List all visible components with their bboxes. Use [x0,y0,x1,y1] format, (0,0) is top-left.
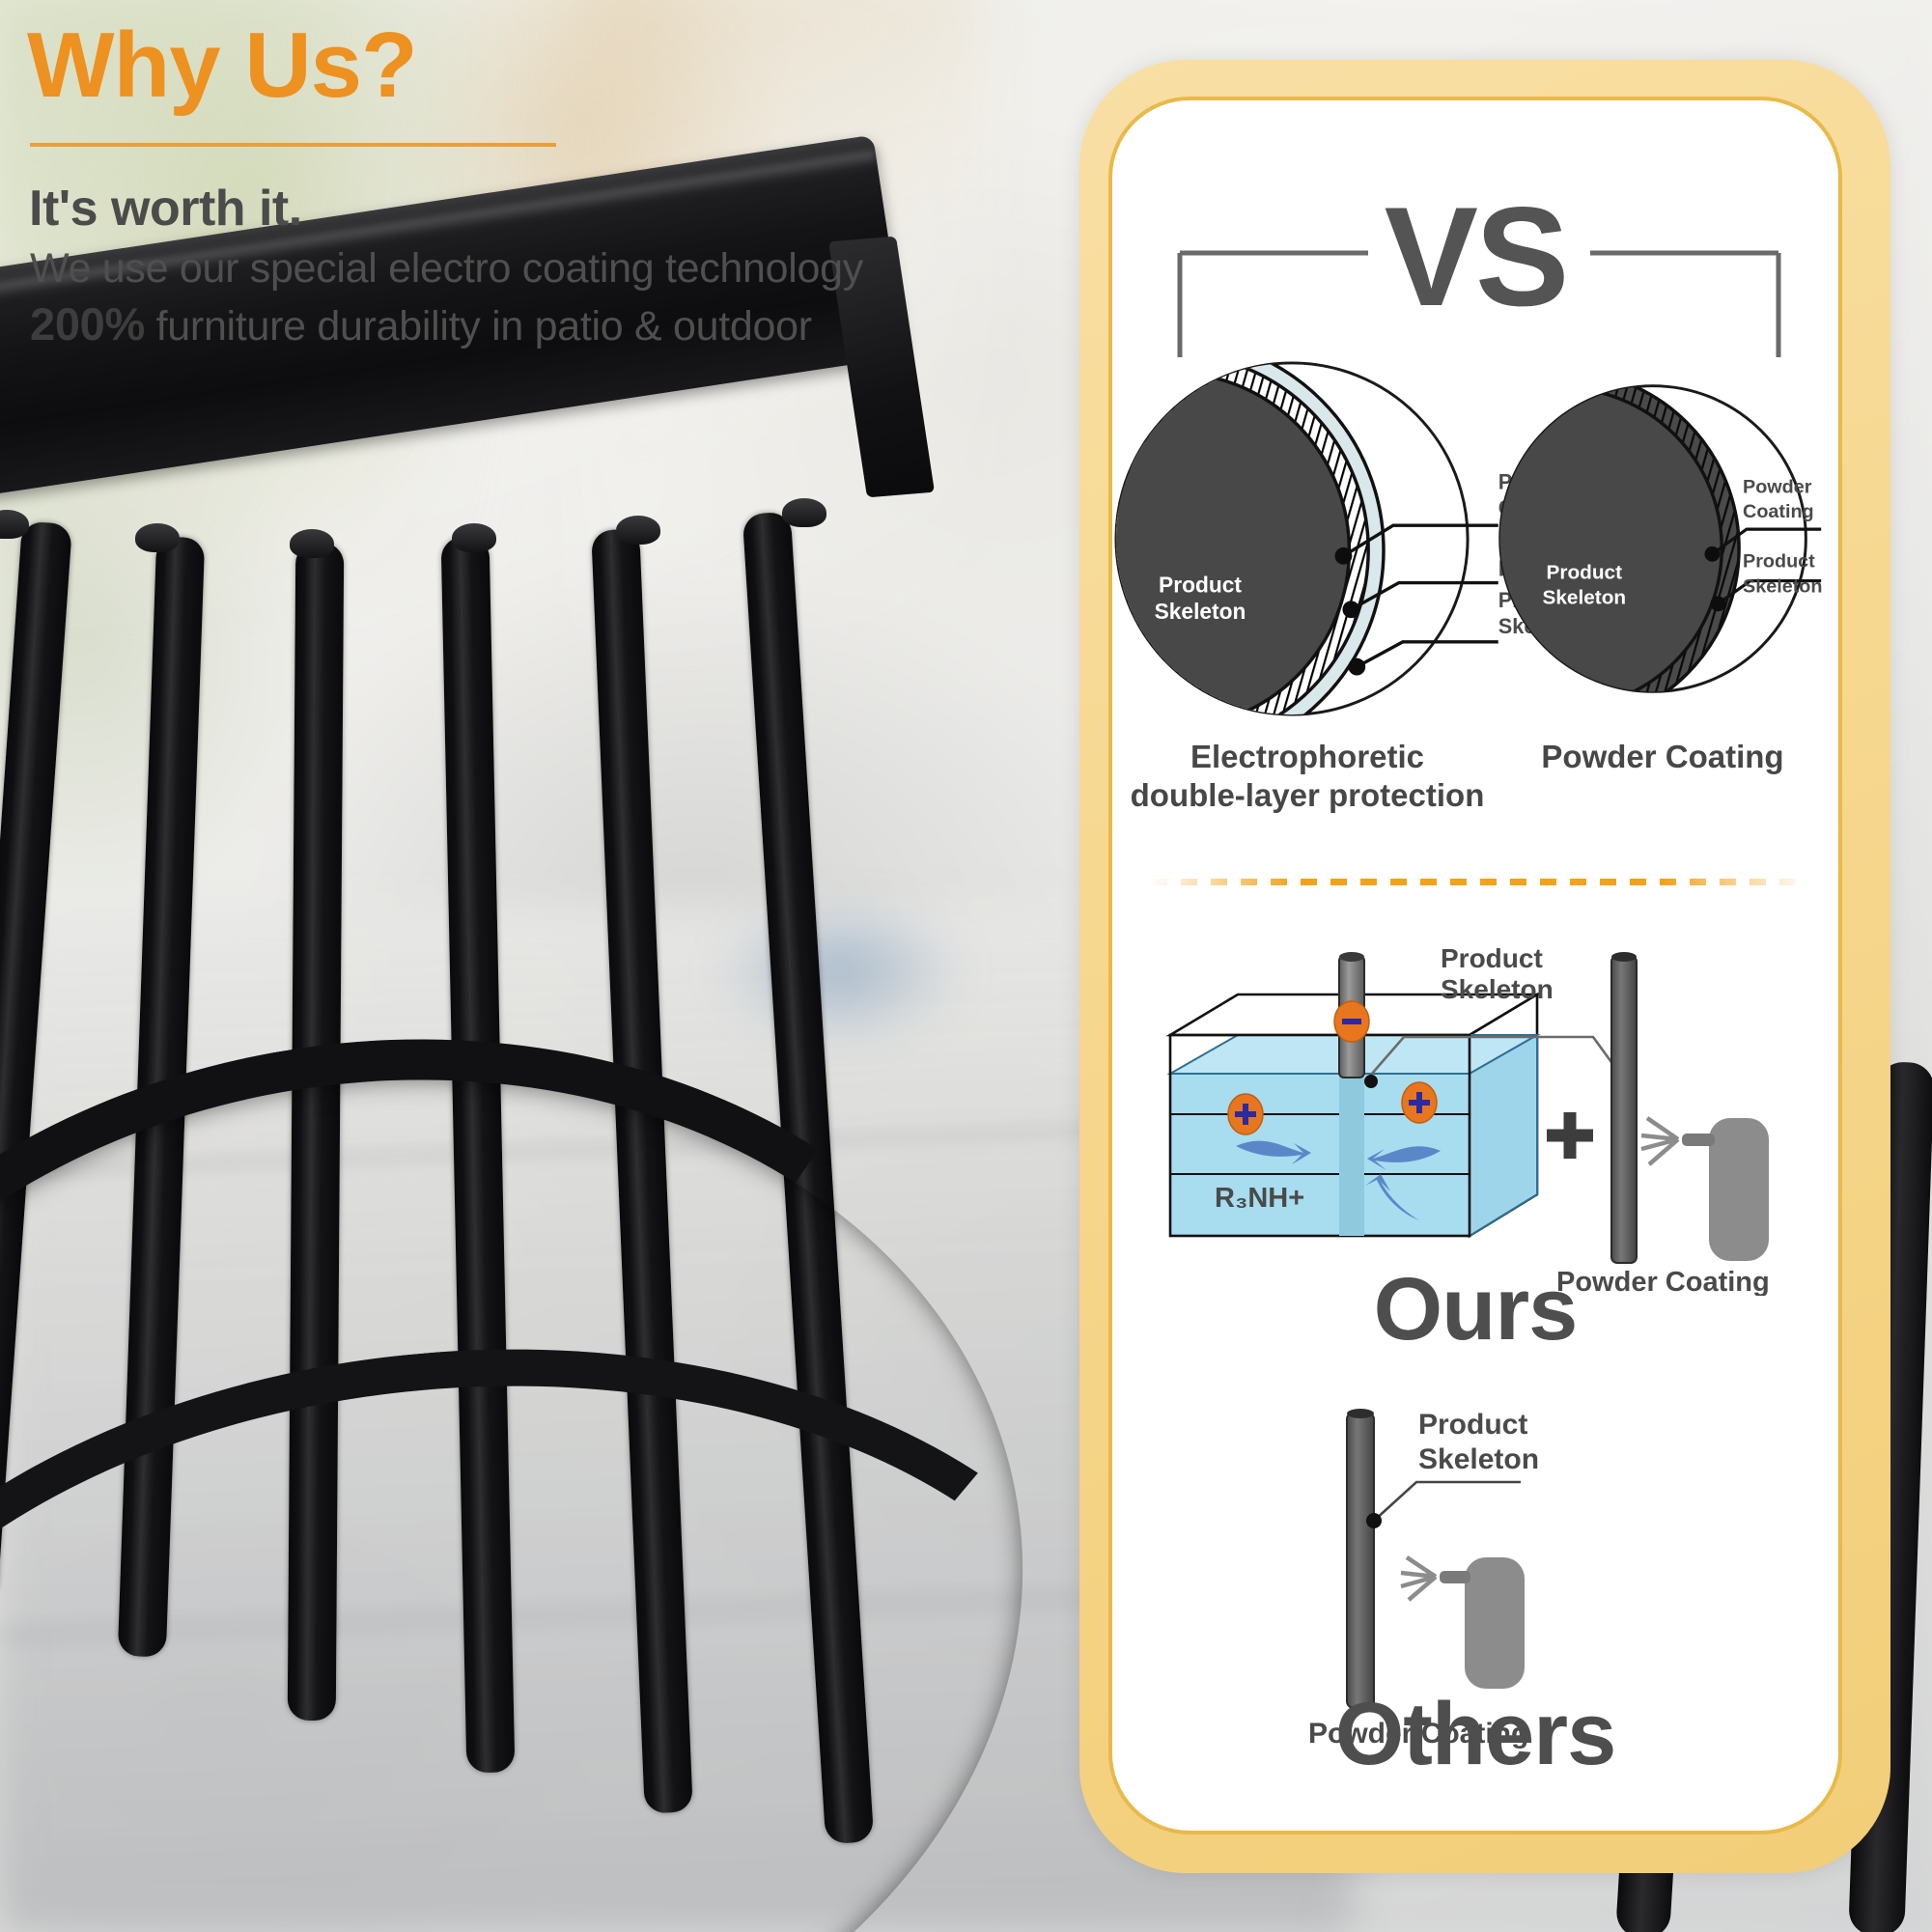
backdrop-blue-reflection [714,898,966,1043]
right-callout-powder-coating-line2: Coating [1743,501,1814,522]
caption-electrophoretic: Electrophoretic double-layer protection [1124,738,1491,816]
ours-title: Ours [1112,1259,1838,1360]
chair-spindle-knob-3 [290,529,334,558]
chair-spindle-knob-5 [616,516,660,545]
chair-spindle-knob-2 [135,523,180,552]
left-core-label-line1: Product [1159,572,1242,597]
durability-percent: 200% [30,298,145,350]
right-callout-powder-coating-line1: Powder [1743,477,1812,498]
right-callout-product-skeleton-line1: Product [1743,551,1815,573]
infographic-canvas: Why Us? It's worth it. We use our specia… [0,0,1932,1932]
subheading: It's worth it. [29,180,302,238]
ours-process-diagram: R₃NH+ Product Skeleton Powder Coating [1141,929,1817,1296]
left-core-label-line2: Skeleton [1155,599,1246,624]
right-core-label-line1: Product [1547,562,1623,584]
page-title: Why Us? [27,17,417,115]
others-skeleton-label-line1: Product [1418,1409,1527,1441]
chair-spindle-knob-4 [452,523,496,552]
others-title: Others [1112,1684,1838,1785]
comparison-captions: Electrophoretic double-layer protection … [1112,738,1838,854]
right-core-label-line2: Skeleton [1543,586,1627,608]
right-callout-product-skeleton-line2: Skeleton [1743,575,1822,597]
comparison-card: VS [1108,97,1842,1834]
ours-skeleton-label-line2: Skeleton [1441,974,1554,1004]
description-line-1: We use our special electro coating techn… [30,245,863,293]
ours-bath-formula: R₃NH+ [1215,1183,1304,1214]
ours-skeleton-label-line1: Product [1441,943,1543,973]
others-skeleton-label-line2: Skeleton [1418,1443,1539,1475]
cross-section-diagrams: Powder Coating R₃NH+ Product Skeleton Pr… [1112,336,1838,742]
title-underline-rule [30,143,556,147]
caption-electrophoretic-line2: double-layer protection [1124,776,1491,815]
caption-powder-coating: Powder Coating [1498,738,1827,776]
section-divider [1151,879,1807,885]
durability-text: furniture durability in patio & outdoor [145,303,812,350]
description-line-2: 200% furniture durability in patio & out… [30,297,812,350]
chair-spindle-knob-6 [782,498,826,527]
caption-electrophoretic-line1: Electrophoretic [1124,738,1491,776]
